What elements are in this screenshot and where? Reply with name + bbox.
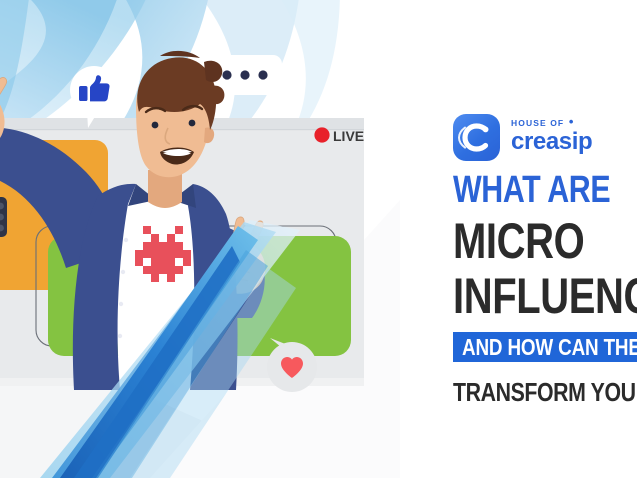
- headline-line-4: AND HOW CAN THEY: [462, 334, 637, 361]
- brand-dot-icon: •: [564, 114, 574, 129]
- headline-line-2: MICRO: [453, 215, 584, 267]
- live-badge: LIVE: [314, 127, 364, 144]
- live-badge-label: LIVE: [333, 128, 364, 144]
- creasip-c-logo-icon: [453, 114, 500, 161]
- poster-canvas: LIVE: [0, 0, 637, 478]
- illustration-svg: LIVE: [0, 0, 400, 478]
- headline-line-1: WHAT ARE: [453, 170, 610, 210]
- illustration-artwork: LIVE: [0, 0, 400, 478]
- headline-line-5: TRANSFORM YOUR: [453, 378, 637, 406]
- brand-name: creasip: [511, 129, 592, 155]
- text-panel: HOUSE OF • creasip WHAT ARE MICRO INFLUE…: [440, 0, 637, 478]
- headline-line-4-band: AND HOW CAN THEY: [453, 332, 637, 362]
- brand-logo[interactable]: HOUSE OF • creasip: [453, 112, 637, 164]
- brand-tagline: HOUSE OF •: [511, 118, 592, 128]
- headline-line-3: INFLUENCERS: [453, 270, 637, 322]
- brand-wordmark: HOUSE OF • creasip: [511, 118, 592, 155]
